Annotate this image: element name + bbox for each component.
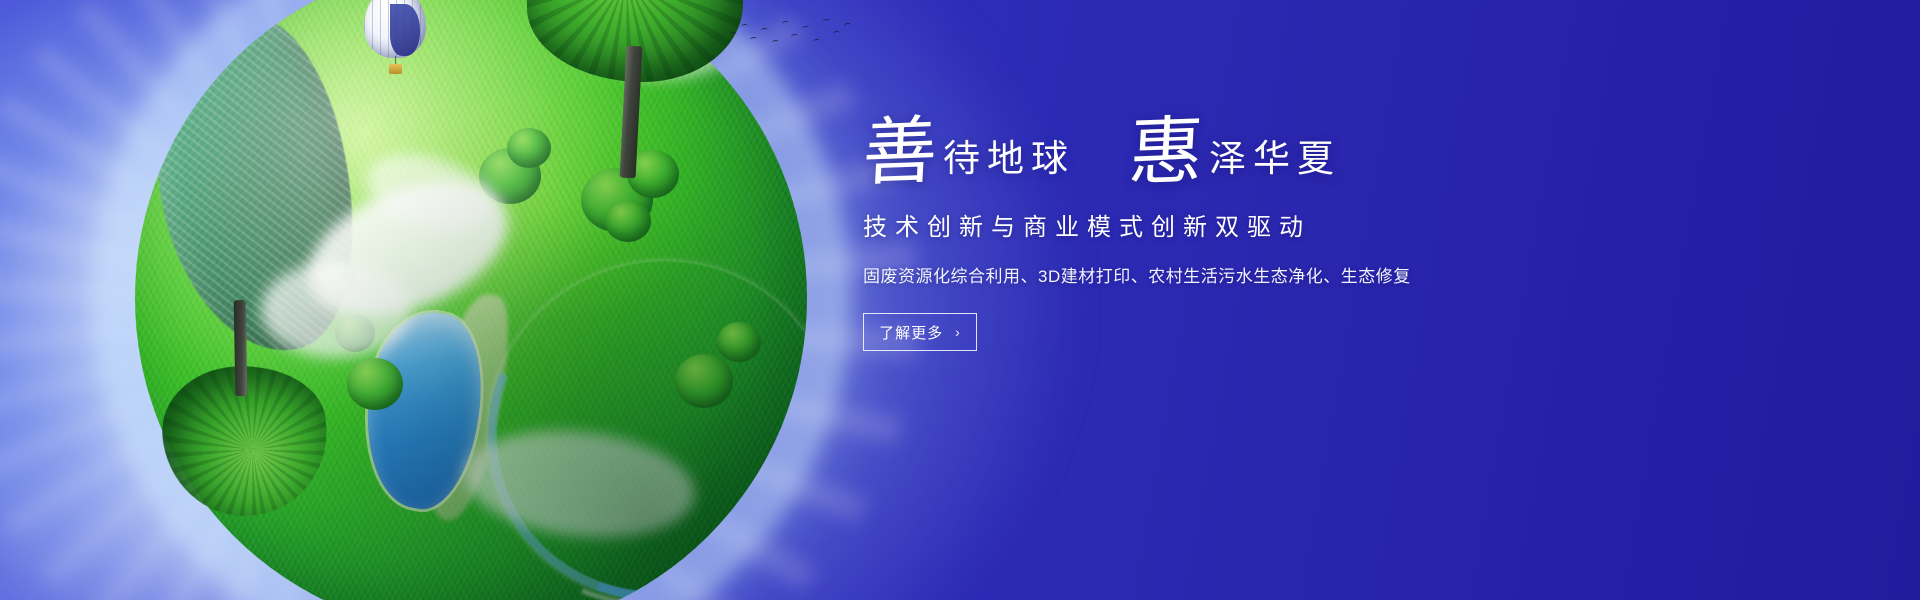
headline-rest-2: 泽华夏	[1209, 141, 1341, 189]
banner-content: 善 待地球 惠 泽华夏 技术创新与商业模式创新双驱动 固废资源化综合利用、3D建…	[863, 118, 1623, 351]
green-earth-globe	[135, 0, 807, 600]
birds-flock-icon	[728, 10, 858, 58]
headline-lead-char-1: 善	[861, 117, 939, 191]
headline-rest-1: 待地球	[943, 141, 1075, 189]
tree-icon	[527, 0, 743, 82]
hero-banner: 善 待地球 惠 泽华夏 技术创新与商业模式创新双驱动 固废资源化综合利用、3D建…	[0, 0, 1920, 600]
banner-headline: 善 待地球 惠 泽华夏	[863, 118, 1623, 189]
chevron-right-icon: ›	[955, 324, 961, 340]
balloon-stripe	[390, 4, 420, 56]
balloon-basket	[389, 64, 402, 74]
banner-description: 固废资源化综合利用、3D建材打印、农村生活污水生态净化、生态修复	[863, 262, 1623, 287]
learn-more-button[interactable]: 了解更多 ›	[863, 313, 977, 351]
headline-lead-char-2: 惠	[1127, 117, 1205, 191]
learn-more-label: 了解更多	[879, 322, 943, 343]
tree-trunk	[234, 300, 248, 396]
tree-icon-lower	[158, 360, 332, 521]
banner-subtitle: 技术创新与商业模式创新双驱动	[863, 207, 1623, 242]
hot-air-balloon-icon	[364, 0, 426, 74]
